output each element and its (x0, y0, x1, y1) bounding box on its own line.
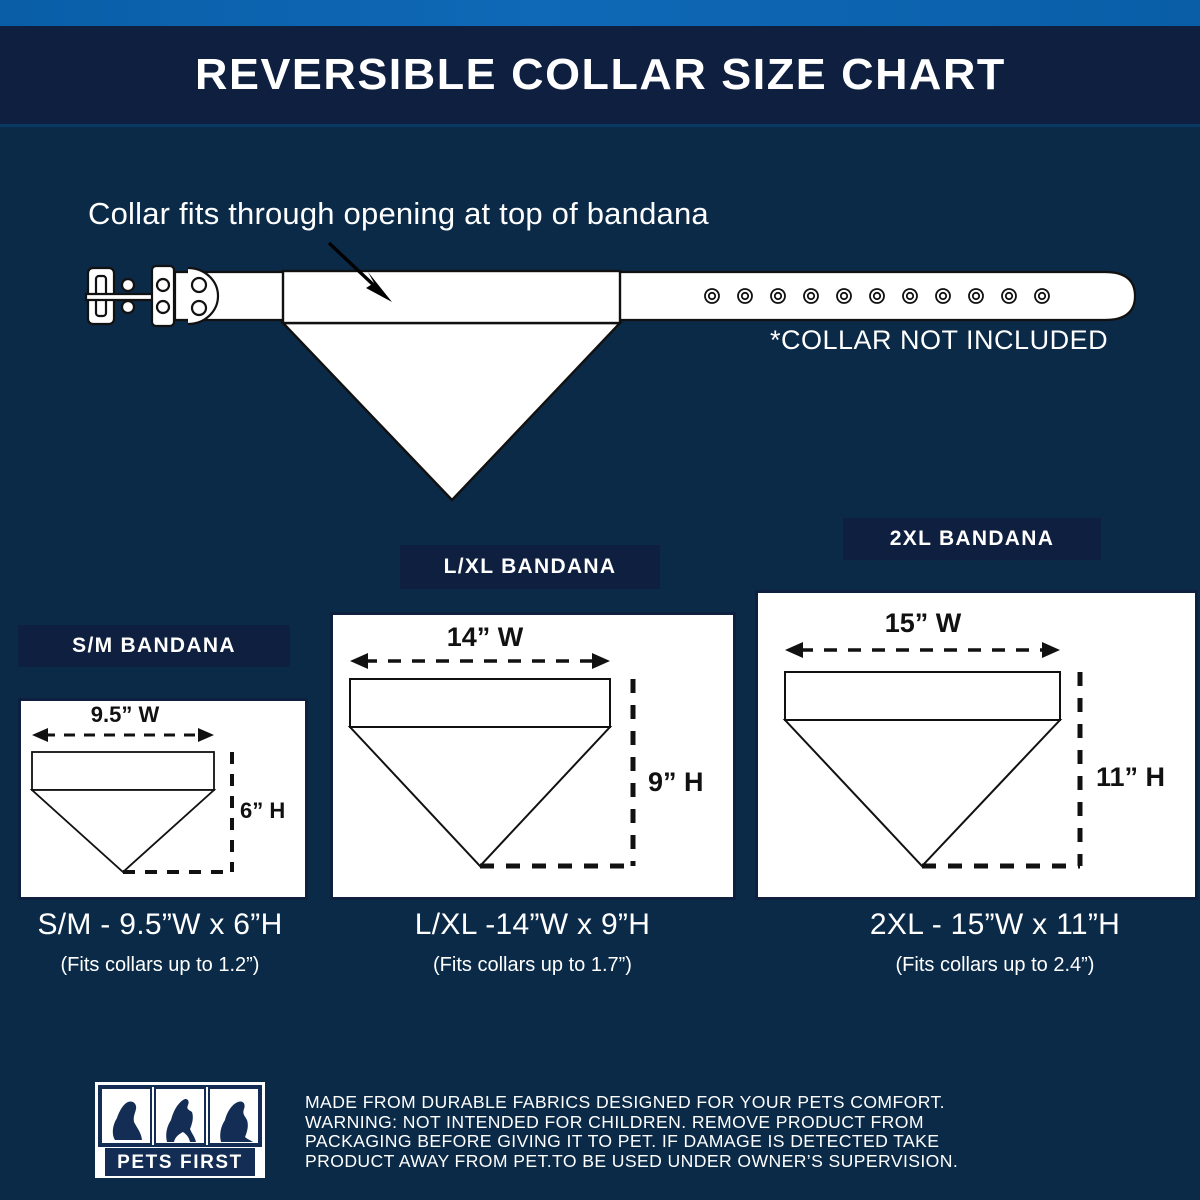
caption-2xl-sub: (Fits collars up to 2.4”) (800, 954, 1190, 977)
buckle-frame-inner (96, 276, 106, 316)
strap-hole (157, 301, 169, 313)
bandana-triangle (283, 323, 620, 500)
strap-hole (192, 301, 206, 315)
dim-width-lxl: 14” W (420, 622, 550, 653)
legal-line-2: WARNING: NOT INTENDED FOR CHILDREN. REMO… (305, 1113, 1095, 1133)
bandana-sleeve (283, 271, 620, 323)
caption-sm-title: S/M - 9.5”W x 6”H (0, 908, 320, 942)
top-accent-strip (0, 0, 1200, 26)
collar-not-included-note: *COLLAR NOT INCLUDED (770, 325, 1108, 356)
caption-2xl-title: 2XL - 15”W x 11”H (800, 908, 1190, 942)
legal-text: MADE FROM DURABLE FABRICS DESIGNED FOR Y… (305, 1093, 1095, 1171)
buckle-frame (88, 268, 114, 324)
header-band: REVERSIBLE COLLAR SIZE CHART (0, 26, 1200, 124)
size-chart-page: REVERSIBLE COLLAR SIZE CHART Collar fits… (0, 0, 1200, 1200)
caption-lxl-sub: (Fits collars up to 1.7”) (360, 954, 705, 977)
pointer-arrow (329, 243, 381, 292)
dim-height-2xl: 11” H (1096, 762, 1191, 793)
pointer-arrow-head (366, 272, 392, 302)
page-title: REVERSIBLE COLLAR SIZE CHART (195, 50, 1006, 100)
strap-hole (157, 279, 169, 291)
collar-punch-holes (705, 289, 1049, 303)
header-divider (0, 124, 1200, 127)
caption-lxl-title: L/XL -14”W x 9”H (360, 908, 705, 942)
panel-lxl (330, 612, 736, 900)
badge-2xl: 2XL BANDANA (843, 518, 1101, 560)
dim-width-sm: 9.5” W (60, 702, 190, 728)
badge-lxl: L/XL BANDANA (400, 545, 660, 589)
pets-first-logo: PETS FIRST (95, 1082, 265, 1178)
caption-lxl: L/XL -14”W x 9”H (Fits collars up to 1.7… (360, 908, 705, 977)
badge-lxl-label: L/XL BANDANA (444, 555, 617, 579)
caption-2xl: 2XL - 15”W x 11”H (Fits collars up to 2.… (800, 908, 1190, 977)
badge-sm-label: S/M BANDANA (72, 634, 236, 658)
dim-height-lxl: 9” H (648, 767, 728, 798)
collar-hint-text: Collar fits through opening at top of ba… (88, 196, 988, 232)
legal-line-3: PACKAGING BEFORE GIVING IT TO PET. IF DA… (305, 1132, 1095, 1152)
keeper-loop-1 (152, 266, 174, 326)
caption-sm-sub: (Fits collars up to 1.2”) (0, 954, 320, 977)
logo-brand-text: PETS FIRST (117, 1152, 243, 1173)
badge-2xl-label: 2XL BANDANA (890, 527, 1054, 551)
strap-hole (192, 278, 206, 292)
collar-strap (175, 272, 1135, 320)
caption-sm: S/M - 9.5”W x 6”H (Fits collars up to 1.… (0, 908, 320, 977)
badge-sm: S/M BANDANA (18, 625, 290, 667)
strap-hole (122, 301, 134, 313)
legal-line-1: MADE FROM DURABLE FABRICS DESIGNED FOR Y… (305, 1093, 1095, 1113)
buckle-prong (86, 294, 172, 300)
d-ring (188, 268, 218, 324)
legal-line-4: PRODUCT AWAY FROM PET.TO BE USED UNDER O… (305, 1152, 1095, 1172)
dim-width-2xl: 15” W (858, 608, 988, 639)
strap-hole (122, 279, 134, 291)
dim-height-sm: 6” H (240, 798, 310, 824)
